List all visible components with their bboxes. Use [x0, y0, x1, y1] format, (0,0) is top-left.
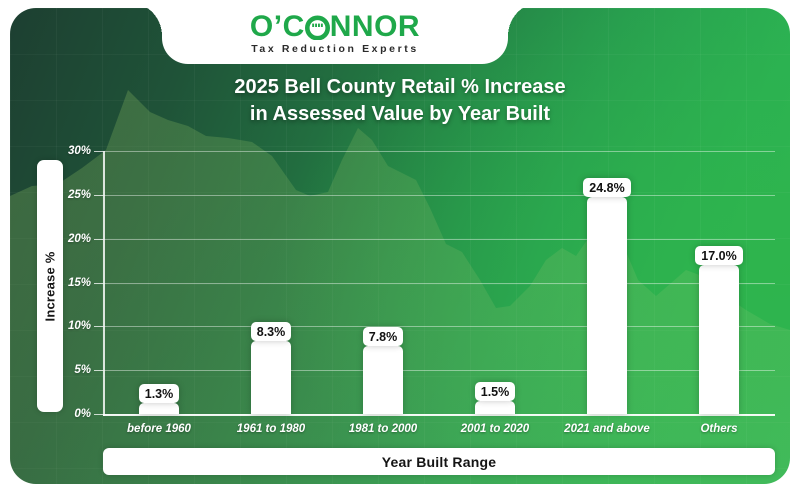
plot-area: 0%5%10%15%20%25%30% 1.3%8.3%7.8%1.5%24.8…: [103, 151, 775, 416]
chart-title-line-1: 2025 Bell County Retail % Increase: [10, 74, 790, 101]
y-axis-title-label: Increase %: [43, 251, 58, 321]
bar-value-label: 1.3%: [139, 384, 180, 403]
y-axis-tick-mark: [94, 239, 103, 240]
logo-tagline: Tax Reduction Experts: [251, 43, 419, 55]
bar-value-label: 17.0%: [695, 246, 742, 265]
bar[interactable]: [475, 401, 515, 414]
y-axis-tick-label: 0%: [74, 408, 91, 420]
logo-wordmark-suffix: NNOR: [330, 12, 420, 42]
x-axis-title-label: Year Built Range: [382, 454, 496, 470]
x-axis-title: Year Built Range: [103, 448, 775, 475]
bar-value-label: 7.8%: [363, 327, 404, 346]
y-axis-tick-label: 10%: [68, 320, 91, 332]
bar-value-label: 1.5%: [475, 382, 516, 401]
y-axis-tick-mark: [94, 195, 103, 196]
x-axis-category-label: 2001 to 2020: [439, 420, 551, 438]
bar[interactable]: [699, 265, 739, 414]
x-axis-tick-labels: before 19601961 to 19801981 to 20002001 …: [103, 420, 775, 440]
infographic-card: O’C NNOR Tax Reduction Experts 2025 Bell…: [0, 0, 800, 492]
y-axis-tick-mark: [94, 283, 103, 284]
bar-column[interactable]: 8.3%: [251, 341, 291, 414]
bar[interactable]: [587, 197, 627, 414]
bars-group: 1.3%8.3%7.8%1.5%24.8%17.0%: [103, 151, 775, 414]
y-axis-tick-label: 5%: [74, 364, 91, 376]
chart-canvas: O’C NNOR Tax Reduction Experts 2025 Bell…: [10, 8, 790, 484]
y-axis-tick-mark: [94, 326, 103, 327]
logo-mark: O’C NNOR: [250, 12, 420, 42]
y-axis-tick-mark: [94, 414, 103, 415]
y-axis-tick-label: 15%: [68, 277, 91, 289]
y-axis-title: Increase %: [37, 160, 63, 412]
x-axis-category-label: 1981 to 2000: [327, 420, 439, 438]
chart-title: 2025 Bell County Retail % Increase in As…: [10, 74, 790, 128]
bar-value-label: 24.8%: [583, 178, 630, 197]
x-axis-category-label: before 1960: [103, 420, 215, 438]
bar-column[interactable]: 7.8%: [363, 346, 403, 414]
x-axis-line: [103, 414, 775, 416]
y-axis-tick-mark: [94, 370, 103, 371]
chart-title-line-2: in Assessed Value by Year Built: [10, 101, 790, 128]
y-axis-tick-label: 20%: [68, 233, 91, 245]
x-axis-category-label: Others: [663, 420, 775, 438]
building-o-icon: [305, 14, 330, 40]
y-axis-tick-label: 25%: [68, 189, 91, 201]
bar[interactable]: [139, 403, 179, 414]
bar-column[interactable]: 17.0%: [699, 265, 739, 414]
x-axis-category-label: 2021 and above: [551, 420, 663, 438]
bar[interactable]: [363, 346, 403, 414]
bar-column[interactable]: 1.3%: [139, 403, 179, 414]
x-axis-category-label: 1961 to 1980: [215, 420, 327, 438]
bar-column[interactable]: 24.8%: [587, 197, 627, 414]
y-axis-tick-label: 30%: [68, 145, 91, 157]
logo-wordmark-prefix: O’C: [250, 12, 305, 42]
y-axis-tick-mark: [94, 151, 103, 152]
brand-logo-banner: O’C NNOR Tax Reduction Experts: [162, 8, 508, 64]
brand-logo: O’C NNOR Tax Reduction Experts: [162, 8, 508, 64]
bar-value-label: 8.3%: [251, 322, 292, 341]
bar-column[interactable]: 1.5%: [475, 401, 515, 414]
bar[interactable]: [251, 341, 291, 414]
